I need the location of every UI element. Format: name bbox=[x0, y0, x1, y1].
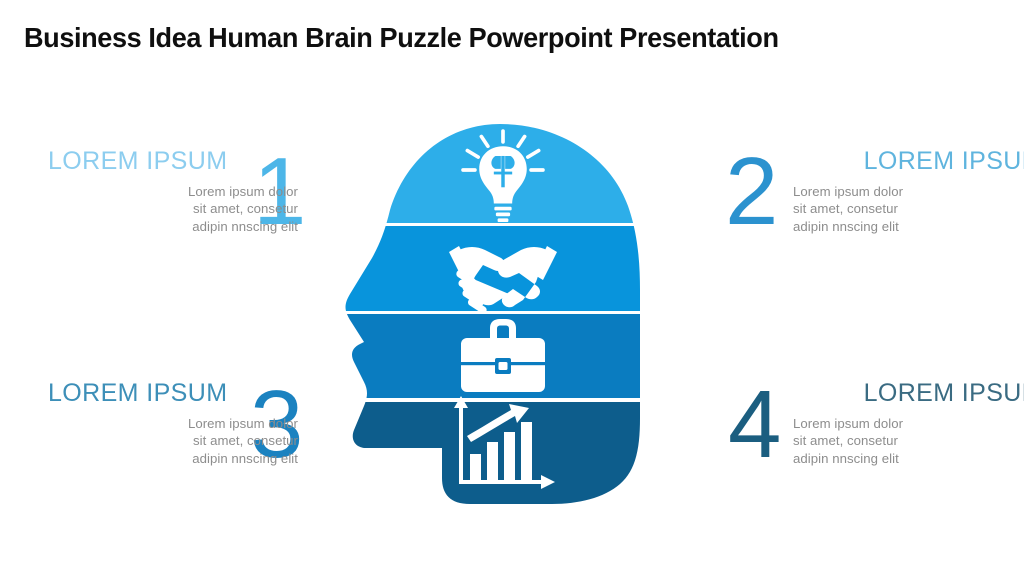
info-block-2-line-2: sit amet, consetur bbox=[793, 200, 1024, 218]
info-block-1-line-1: Lorem ipsum dolor bbox=[48, 183, 298, 201]
info-block-3: LOREM IPSUM Lorem ipsum dolor sit amet, … bbox=[48, 380, 298, 467]
info-block-3-line-1: Lorem ipsum dolor bbox=[48, 415, 298, 433]
info-block-1: LOREM IPSUM Lorem ipsum dolor sit amet, … bbox=[48, 148, 298, 235]
info-block-3-line-3: adipin nnscing elit bbox=[48, 450, 298, 468]
info-block-4-heading: LOREM IPSUM bbox=[793, 380, 1024, 408]
page-title: Business Idea Human Brain Puzzle Powerpo… bbox=[24, 22, 989, 54]
head-infographic bbox=[320, 118, 680, 518]
info-block-3-line-2: sit amet, consetur bbox=[48, 432, 298, 450]
info-block-1-line-2: sit amet, consetur bbox=[48, 200, 298, 218]
info-block-3-body: Lorem ipsum dolor sit amet, consetur adi… bbox=[48, 415, 298, 468]
info-block-2-body: Lorem ipsum dolor sit amet, consetur adi… bbox=[793, 183, 1024, 236]
info-block-4-line-1: Lorem ipsum dolor bbox=[793, 415, 1024, 433]
step-number-4: 4 bbox=[728, 377, 781, 473]
info-block-4-line-3: adipin nnscing elit bbox=[793, 450, 1024, 468]
info-block-1-line-3: adipin nnscing elit bbox=[48, 218, 298, 236]
info-block-4: LOREM IPSUM Lorem ipsum dolor sit amet, … bbox=[793, 380, 1024, 467]
info-block-3-heading: LOREM IPSUM bbox=[48, 380, 298, 408]
step-number-2: 2 bbox=[725, 144, 778, 240]
info-block-4-body: Lorem ipsum dolor sit amet, consetur adi… bbox=[793, 415, 1024, 468]
info-block-2-line-1: Lorem ipsum dolor bbox=[793, 183, 1024, 201]
info-block-2-heading: LOREM IPSUM bbox=[793, 148, 1024, 176]
info-block-1-body: Lorem ipsum dolor sit amet, consetur adi… bbox=[48, 183, 298, 236]
info-block-2: LOREM IPSUM Lorem ipsum dolor sit amet, … bbox=[793, 148, 1024, 235]
info-block-1-heading: LOREM IPSUM bbox=[48, 148, 298, 176]
info-block-4-line-2: sit amet, consetur bbox=[793, 432, 1024, 450]
info-block-2-line-3: adipin nnscing elit bbox=[793, 218, 1024, 236]
